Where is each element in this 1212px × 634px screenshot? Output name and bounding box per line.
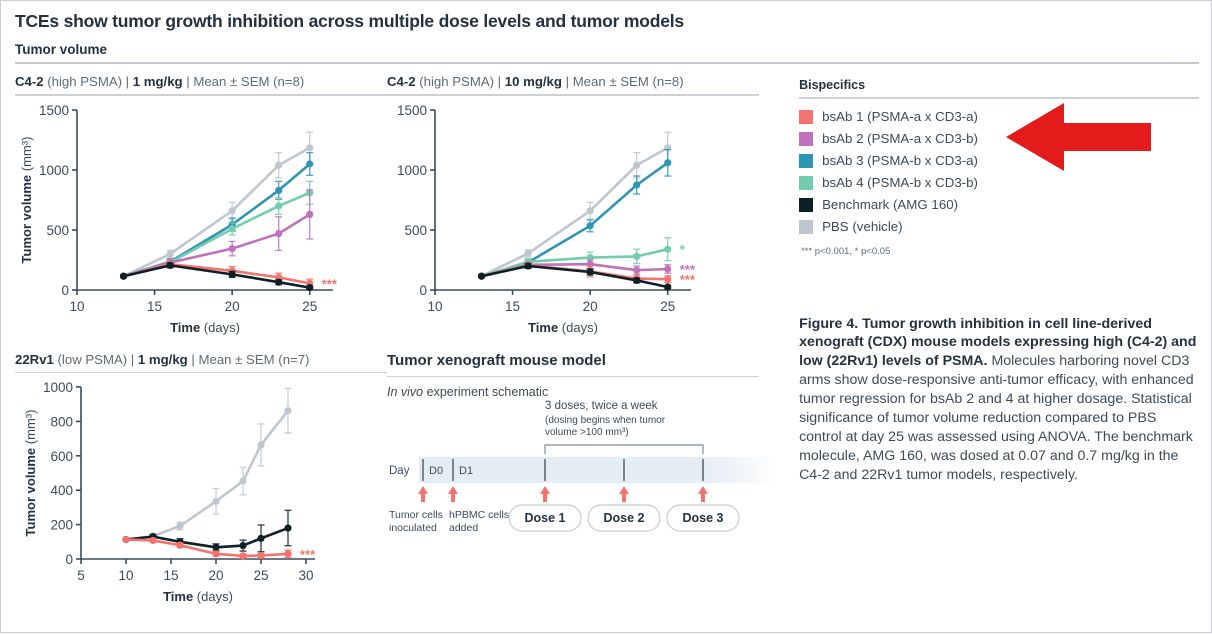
data-point <box>275 278 282 285</box>
legend-divider <box>799 97 1199 99</box>
dose-pill[interactable]: Dose 1 <box>509 505 581 531</box>
chart-panel-c42-10mgkg: C4-2 (high PSMA) | 10 mg/kg | Mean ± SEM… <box>387 74 759 346</box>
x-tick-label: 20 <box>225 299 240 314</box>
data-point <box>229 270 236 277</box>
data-point <box>149 537 156 544</box>
y-tick-label: 200 <box>50 518 73 533</box>
timeline-marker-arrow <box>619 486 629 502</box>
panel-dose: 10 mg/kg <box>505 74 562 89</box>
timeline-marker-arrow <box>540 486 550 502</box>
legend-item: PBS (vehicle) <box>799 216 1199 238</box>
legend-item-label: bsAb 1 (PSMA-a x CD3-a) <box>822 109 978 124</box>
x-tick-label: 10 <box>427 299 442 314</box>
chart-svg-c42-10mgkg: 05001000150010152025*******Time (days) <box>387 96 747 346</box>
schematic-subtitle-rest: experiment schematic <box>423 385 548 399</box>
data-point <box>587 268 594 275</box>
data-point <box>176 522 183 529</box>
legend-swatch <box>799 132 813 146</box>
dosing-note-line2: (dosing begins when tumor <box>545 415 666 426</box>
data-point <box>633 181 640 188</box>
timeline-event-label: Tumor cells <box>389 509 443 521</box>
x-tick-label: 10 <box>118 568 133 583</box>
x-tick-label: 25 <box>302 299 317 314</box>
data-point <box>478 272 485 279</box>
schematic-subtitle-italic: In vivo <box>387 385 423 399</box>
panel-psma: (low PSMA) | <box>54 352 138 367</box>
data-point <box>306 210 313 217</box>
y-tick-label: 400 <box>50 483 73 498</box>
chart-panel-22rv1: 22Rv1 (low PSMA) | 1 mg/kg | Mean ± SEM … <box>15 352 387 614</box>
schematic-divider <box>387 376 759 378</box>
panel-model: 22Rv1 <box>15 352 54 367</box>
data-point <box>633 266 640 273</box>
experiment-timeline: 3 doses, twice a week(dosing begins when… <box>387 399 759 559</box>
chart-svg-c42-1mgkg: 05001000150010152025***Tumor volume (mm³… <box>15 96 375 346</box>
series-line <box>124 214 310 276</box>
charts-row-top: C4-2 (high PSMA) | 1 mg/kg | Mean ± SEM … <box>15 74 781 346</box>
data-point <box>229 207 236 214</box>
x-axis-label: Time (days) <box>170 320 240 335</box>
line-chart-c42-1mgkg: 05001000150010152025***Tumor volume (mm³… <box>15 96 387 346</box>
data-point <box>284 550 291 557</box>
legend-swatch <box>799 176 813 190</box>
dosing-note-line1: 3 doses, twice a week <box>545 400 658 412</box>
timeline-svg: 3 doses, twice a week(dosing begins when… <box>387 399 787 559</box>
caption-body: Molecules harboring novel CD3 arms show … <box>799 353 1194 482</box>
y-tick-label: 500 <box>404 223 427 238</box>
chart-panel-c42-1mgkg: C4-2 (high PSMA) | 1 mg/kg | Mean ± SEM … <box>15 74 387 346</box>
timeline-marker-arrow <box>698 486 708 502</box>
y-tick-label: 1000 <box>43 380 73 395</box>
y-tick-label: 600 <box>50 449 73 464</box>
significance-marker: * <box>680 242 686 257</box>
y-tick-label: 500 <box>46 223 69 238</box>
data-point <box>664 245 671 252</box>
significance-marker: *** <box>680 272 696 287</box>
panel-stats: | Mean ± SEM (n=8) <box>183 74 305 89</box>
dose-pill[interactable]: Dose 2 <box>588 505 660 531</box>
data-point <box>212 544 219 551</box>
legend-swatch <box>799 110 813 124</box>
data-point <box>664 265 671 272</box>
panel-model: C4-2 <box>387 74 416 89</box>
left-column: C4-2 (high PSMA) | 1 mg/kg | Mean ± SEM … <box>15 74 781 613</box>
timeline-event-label: hPBMC cells <box>449 509 509 521</box>
x-tick-label: 20 <box>583 299 598 314</box>
section-title: Tumor volume <box>15 42 1199 57</box>
data-point <box>275 161 282 168</box>
dose-pill-label: Dose 3 <box>683 511 724 525</box>
figure-caption: Figure 4. Tumor growth inhibition in cel… <box>799 315 1199 485</box>
legend-item: Benchmark (AMG 160) <box>799 194 1199 216</box>
x-tick-label: 10 <box>69 299 84 314</box>
x-tick-label: 15 <box>505 299 520 314</box>
data-point <box>587 207 594 214</box>
panel-psma: (high PSMA) | <box>416 74 505 89</box>
legend-item-label: bsAb 2 (PSMA-a x CD3-b) <box>822 131 978 146</box>
data-point <box>122 536 129 543</box>
data-point <box>664 275 671 282</box>
legend-swatch <box>799 220 813 234</box>
y-axis-label: Tumor volume (mm³) <box>19 136 34 263</box>
timeline-marker-arrow <box>418 486 428 502</box>
page-title: TCEs show tumor growth inhibition across… <box>15 11 1199 32</box>
data-point <box>587 222 594 229</box>
legend-item: bsAb 4 (PSMA-b x CD3-b) <box>799 172 1199 194</box>
data-point <box>664 283 671 290</box>
significance-marker: *** <box>322 276 338 291</box>
red-arrow-annotation <box>1006 101 1151 173</box>
significance-marker: *** <box>300 547 316 562</box>
data-point <box>212 550 219 557</box>
legend-item-label: PBS (vehicle) <box>822 219 903 234</box>
data-point <box>239 477 246 484</box>
data-point <box>239 552 246 559</box>
data-point <box>257 441 264 448</box>
data-point <box>239 542 246 549</box>
data-point <box>306 160 313 167</box>
timeline-marker-arrow <box>448 486 458 502</box>
panel-model: C4-2 <box>15 74 44 89</box>
schematic-subtitle: In vivo experiment schematic <box>387 385 759 399</box>
y-tick-label: 1000 <box>397 163 427 178</box>
y-tick-label: 0 <box>65 552 73 567</box>
charts-row-bottom: 22Rv1 (low PSMA) | 1 mg/kg | Mean ± SEM … <box>15 352 781 614</box>
data-point <box>524 262 531 269</box>
data-point <box>664 159 671 166</box>
x-tick-label: 30 <box>298 568 313 583</box>
data-point <box>284 524 291 531</box>
day-tick: D1 <box>459 465 473 477</box>
day-axis-label: Day <box>389 465 410 477</box>
x-tick-label: 25 <box>660 299 675 314</box>
data-point <box>284 407 291 414</box>
legend-item-label: bsAb 3 (PSMA-b x CD3-a) <box>822 153 978 168</box>
data-point <box>212 498 219 505</box>
line-chart-c42-10mgkg: 05001000150010152025*******Time (days) <box>387 96 759 346</box>
data-point <box>176 542 183 549</box>
data-point <box>275 202 282 209</box>
y-tick-label: 1000 <box>39 163 69 178</box>
figure-page: TCEs show tumor growth inhibition across… <box>1 1 1212 634</box>
series-line <box>124 147 310 275</box>
panel-dose: 1 mg/kg <box>138 352 188 367</box>
timeline-event-label: added <box>449 522 478 534</box>
dosing-note-line3: volume >100 mm³) <box>545 427 629 438</box>
data-point <box>166 261 173 268</box>
legend-swatch <box>799 198 813 212</box>
x-tick-label: 15 <box>147 299 162 314</box>
data-point <box>633 161 640 168</box>
data-point <box>306 144 313 151</box>
panel-dose: 1 mg/kg <box>133 74 183 89</box>
panel-stats: | Mean ± SEM (n=8) <box>562 74 684 89</box>
chart-svg-22rv1-1mgkg: 0200400600800100051015202530***Tumor vol… <box>15 373 355 613</box>
schematic-title: Tumor xenograft mouse model <box>387 352 759 369</box>
panel-header: C4-2 (high PSMA) | 10 mg/kg | Mean ± SEM… <box>387 74 759 89</box>
timeline-event-label: inoculated <box>389 522 437 534</box>
data-point <box>633 252 640 259</box>
y-tick-label: 1500 <box>39 103 69 118</box>
panel-stats: | Mean ± SEM (n=7) <box>188 352 310 367</box>
data-point <box>166 250 173 257</box>
y-tick-label: 800 <box>50 414 73 429</box>
data-point <box>633 276 640 283</box>
y-tick-label: 1500 <box>397 103 427 118</box>
dose-pill-label: Dose 2 <box>604 511 645 525</box>
panel-header: C4-2 (high PSMA) | 1 mg/kg | Mean ± SEM … <box>15 74 387 89</box>
data-point <box>229 245 236 252</box>
data-point <box>120 272 127 279</box>
data-point <box>524 249 531 256</box>
panel-psma: (high PSMA) | <box>44 74 133 89</box>
x-tick-label: 15 <box>163 568 178 583</box>
data-point <box>275 230 282 237</box>
schematic-panel: Tumor xenograft mouse model In vivo expe… <box>387 352 759 614</box>
data-point <box>275 186 282 193</box>
dose-pill[interactable]: Dose 3 <box>667 505 739 531</box>
x-axis-label: Time (days) <box>528 320 598 335</box>
day-tick: D0 <box>429 465 443 477</box>
legend-item-label: bsAb 4 (PSMA-b x CD3-b) <box>822 175 978 190</box>
legend-item-label: Benchmark (AMG 160) <box>822 197 958 212</box>
line-chart-22rv1: 0200400600800100051015202530***Tumor vol… <box>15 373 387 613</box>
data-point <box>306 284 313 291</box>
x-tick-label: 5 <box>77 568 85 583</box>
y-tick-label: 0 <box>419 283 427 298</box>
data-point <box>229 225 236 232</box>
significance-footnote: *** p<0.001, * p<0.05 <box>799 246 1199 257</box>
series-line <box>126 411 288 540</box>
x-tick-label: 20 <box>208 568 223 583</box>
legend-swatch <box>799 154 813 168</box>
y-tick-label: 0 <box>61 283 69 298</box>
data-point <box>257 552 264 559</box>
x-tick-label: 25 <box>253 568 268 583</box>
data-point <box>257 535 264 542</box>
legend-title: Bispecifics <box>799 78 1199 92</box>
x-axis-label: Time (days) <box>163 589 233 604</box>
panel-header: 22Rv1 (low PSMA) | 1 mg/kg | Mean ± SEM … <box>15 352 387 367</box>
y-axis-label: Tumor volume (mm³) <box>23 410 38 537</box>
dose-pill-label: Dose 1 <box>525 511 566 525</box>
title-divider <box>15 62 1199 64</box>
